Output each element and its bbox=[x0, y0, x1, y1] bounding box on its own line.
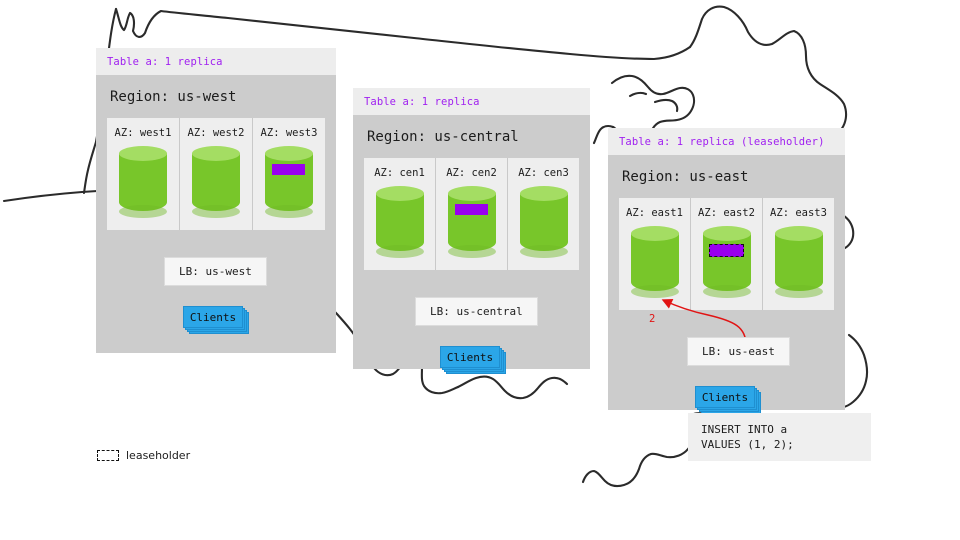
sql-statement-box: INSERT INTO a VALUES (1, 2); bbox=[688, 413, 871, 461]
az-row-us-west: AZ: west1 AZ: west2 AZ bbox=[107, 118, 325, 230]
az-cell-cen2[interactable]: AZ: cen2 bbox=[435, 158, 507, 270]
az-label-east3: AZ: east3 bbox=[763, 207, 834, 219]
clients-stack-us-east[interactable]: Clients bbox=[695, 386, 759, 411]
node-cylinder-east2[interactable] bbox=[703, 226, 751, 298]
cylinder-base-icon bbox=[703, 285, 751, 298]
az-label-west2: AZ: west2 bbox=[180, 127, 252, 139]
load-balancer-us-central[interactable]: LB: us-central bbox=[415, 297, 538, 326]
az-label-east2: AZ: east2 bbox=[691, 207, 762, 219]
replica-marker-leaseholder-east2 bbox=[709, 244, 744, 257]
cylinder-base-icon bbox=[775, 285, 823, 298]
cylinder-top-icon bbox=[520, 186, 568, 201]
region-body-us-central: Region: us-central AZ: cen1 AZ: cen2 bbox=[353, 115, 590, 369]
az-label-cen3: AZ: cen3 bbox=[508, 167, 579, 179]
az-label-west1: AZ: west1 bbox=[107, 127, 179, 139]
region-body-us-east: Region: us-east AZ: east1 AZ: east2 bbox=[608, 155, 845, 410]
node-cylinder-west1[interactable] bbox=[119, 146, 167, 218]
cylinder-base-icon bbox=[448, 245, 496, 258]
region-header-label-us-east: Table a: 1 replica (leaseholder) bbox=[608, 128, 845, 155]
cylinder-base-icon bbox=[265, 205, 313, 218]
node-cylinder-east3[interactable] bbox=[775, 226, 823, 298]
az-label-cen1: AZ: cen1 bbox=[364, 167, 435, 179]
cylinder-top-icon bbox=[192, 146, 240, 161]
cylinder-top-icon bbox=[448, 186, 496, 201]
az-cell-west1[interactable]: AZ: west1 bbox=[107, 118, 179, 230]
region-panel-us-west: Table a: 1 replica Region: us-west AZ: w… bbox=[96, 48, 336, 353]
az-cell-east1[interactable]: AZ: east1 bbox=[619, 198, 690, 310]
leaseholder-dashed-rectangle-icon bbox=[97, 450, 119, 461]
clients-label-us-west[interactable]: Clients bbox=[183, 306, 243, 328]
cylinder-top-icon bbox=[631, 226, 679, 241]
node-cylinder-east1[interactable] bbox=[631, 226, 679, 298]
cylinder-base-icon bbox=[631, 285, 679, 298]
cylinder-base-icon bbox=[119, 205, 167, 218]
node-cylinder-cen3[interactable] bbox=[520, 186, 568, 258]
load-balancer-us-east[interactable]: LB: us-east bbox=[687, 337, 790, 366]
cylinder-base-icon bbox=[192, 205, 240, 218]
az-cell-east3[interactable]: AZ: east3 bbox=[762, 198, 834, 310]
diagram-canvas: Table a: 1 replica Region: us-west AZ: w… bbox=[0, 0, 960, 540]
region-panel-us-east: Table a: 1 replica (leaseholder) Region:… bbox=[608, 128, 845, 410]
replica-marker-west3 bbox=[272, 164, 305, 175]
node-cylinder-west2[interactable] bbox=[192, 146, 240, 218]
cylinder-base-icon bbox=[376, 245, 424, 258]
clients-stack-us-central[interactable]: Clients bbox=[440, 346, 504, 371]
region-title-us-west: Region: us-west bbox=[96, 75, 336, 118]
node-cylinder-west3[interactable] bbox=[265, 146, 313, 218]
az-cell-east2[interactable]: AZ: east2 bbox=[690, 198, 762, 310]
cylinder-body-icon bbox=[520, 193, 568, 251]
az-row-us-central: AZ: cen1 AZ: cen2 bbox=[364, 158, 579, 270]
node-cylinder-cen2[interactable] bbox=[448, 186, 496, 258]
cylinder-body-icon bbox=[119, 153, 167, 211]
cylinder-body-icon bbox=[703, 233, 751, 291]
region-header-label-us-west: Table a: 1 replica bbox=[96, 48, 336, 75]
az-cell-cen1[interactable]: AZ: cen1 bbox=[364, 158, 435, 270]
region-header-label-us-central: Table a: 1 replica bbox=[353, 88, 590, 115]
region-title-us-east: Region: us-east bbox=[608, 155, 845, 198]
az-cell-cen3[interactable]: AZ: cen3 bbox=[507, 158, 579, 270]
cylinder-body-icon bbox=[775, 233, 823, 291]
clients-label-us-east[interactable]: Clients bbox=[695, 386, 755, 408]
routing-arrow-step-label: 2 bbox=[649, 313, 655, 325]
az-cell-west3[interactable]: AZ: west3 bbox=[252, 118, 325, 230]
az-label-west3: AZ: west3 bbox=[253, 127, 325, 139]
cylinder-body-icon bbox=[192, 153, 240, 211]
region-body-us-west: Region: us-west AZ: west1 AZ: west2 bbox=[96, 75, 336, 353]
cylinder-top-icon bbox=[703, 226, 751, 241]
clients-stack-us-west[interactable]: Clients bbox=[183, 306, 247, 331]
clients-label-us-central[interactable]: Clients bbox=[440, 346, 500, 368]
cylinder-top-icon bbox=[119, 146, 167, 161]
legend-label-leaseholder: leaseholder bbox=[126, 449, 190, 462]
cylinder-top-icon bbox=[265, 146, 313, 161]
cylinder-top-icon bbox=[376, 186, 424, 201]
legend: leaseholder bbox=[97, 449, 190, 462]
cylinder-top-icon bbox=[775, 226, 823, 241]
az-label-cen2: AZ: cen2 bbox=[436, 167, 507, 179]
az-label-east1: AZ: east1 bbox=[619, 207, 690, 219]
cylinder-body-icon bbox=[376, 193, 424, 251]
region-panel-us-central: Table a: 1 replica Region: us-central AZ… bbox=[353, 88, 590, 369]
node-cylinder-cen1[interactable] bbox=[376, 186, 424, 258]
load-balancer-us-west[interactable]: LB: us-west bbox=[164, 257, 267, 286]
replica-marker-cen2 bbox=[455, 204, 488, 215]
cylinder-body-icon bbox=[265, 153, 313, 211]
az-cell-west2[interactable]: AZ: west2 bbox=[179, 118, 252, 230]
cylinder-base-icon bbox=[520, 245, 568, 258]
cylinder-body-icon bbox=[631, 233, 679, 291]
az-row-us-east: AZ: east1 AZ: east2 bbox=[619, 198, 834, 310]
cylinder-body-icon bbox=[448, 193, 496, 251]
region-title-us-central: Region: us-central bbox=[353, 115, 590, 158]
